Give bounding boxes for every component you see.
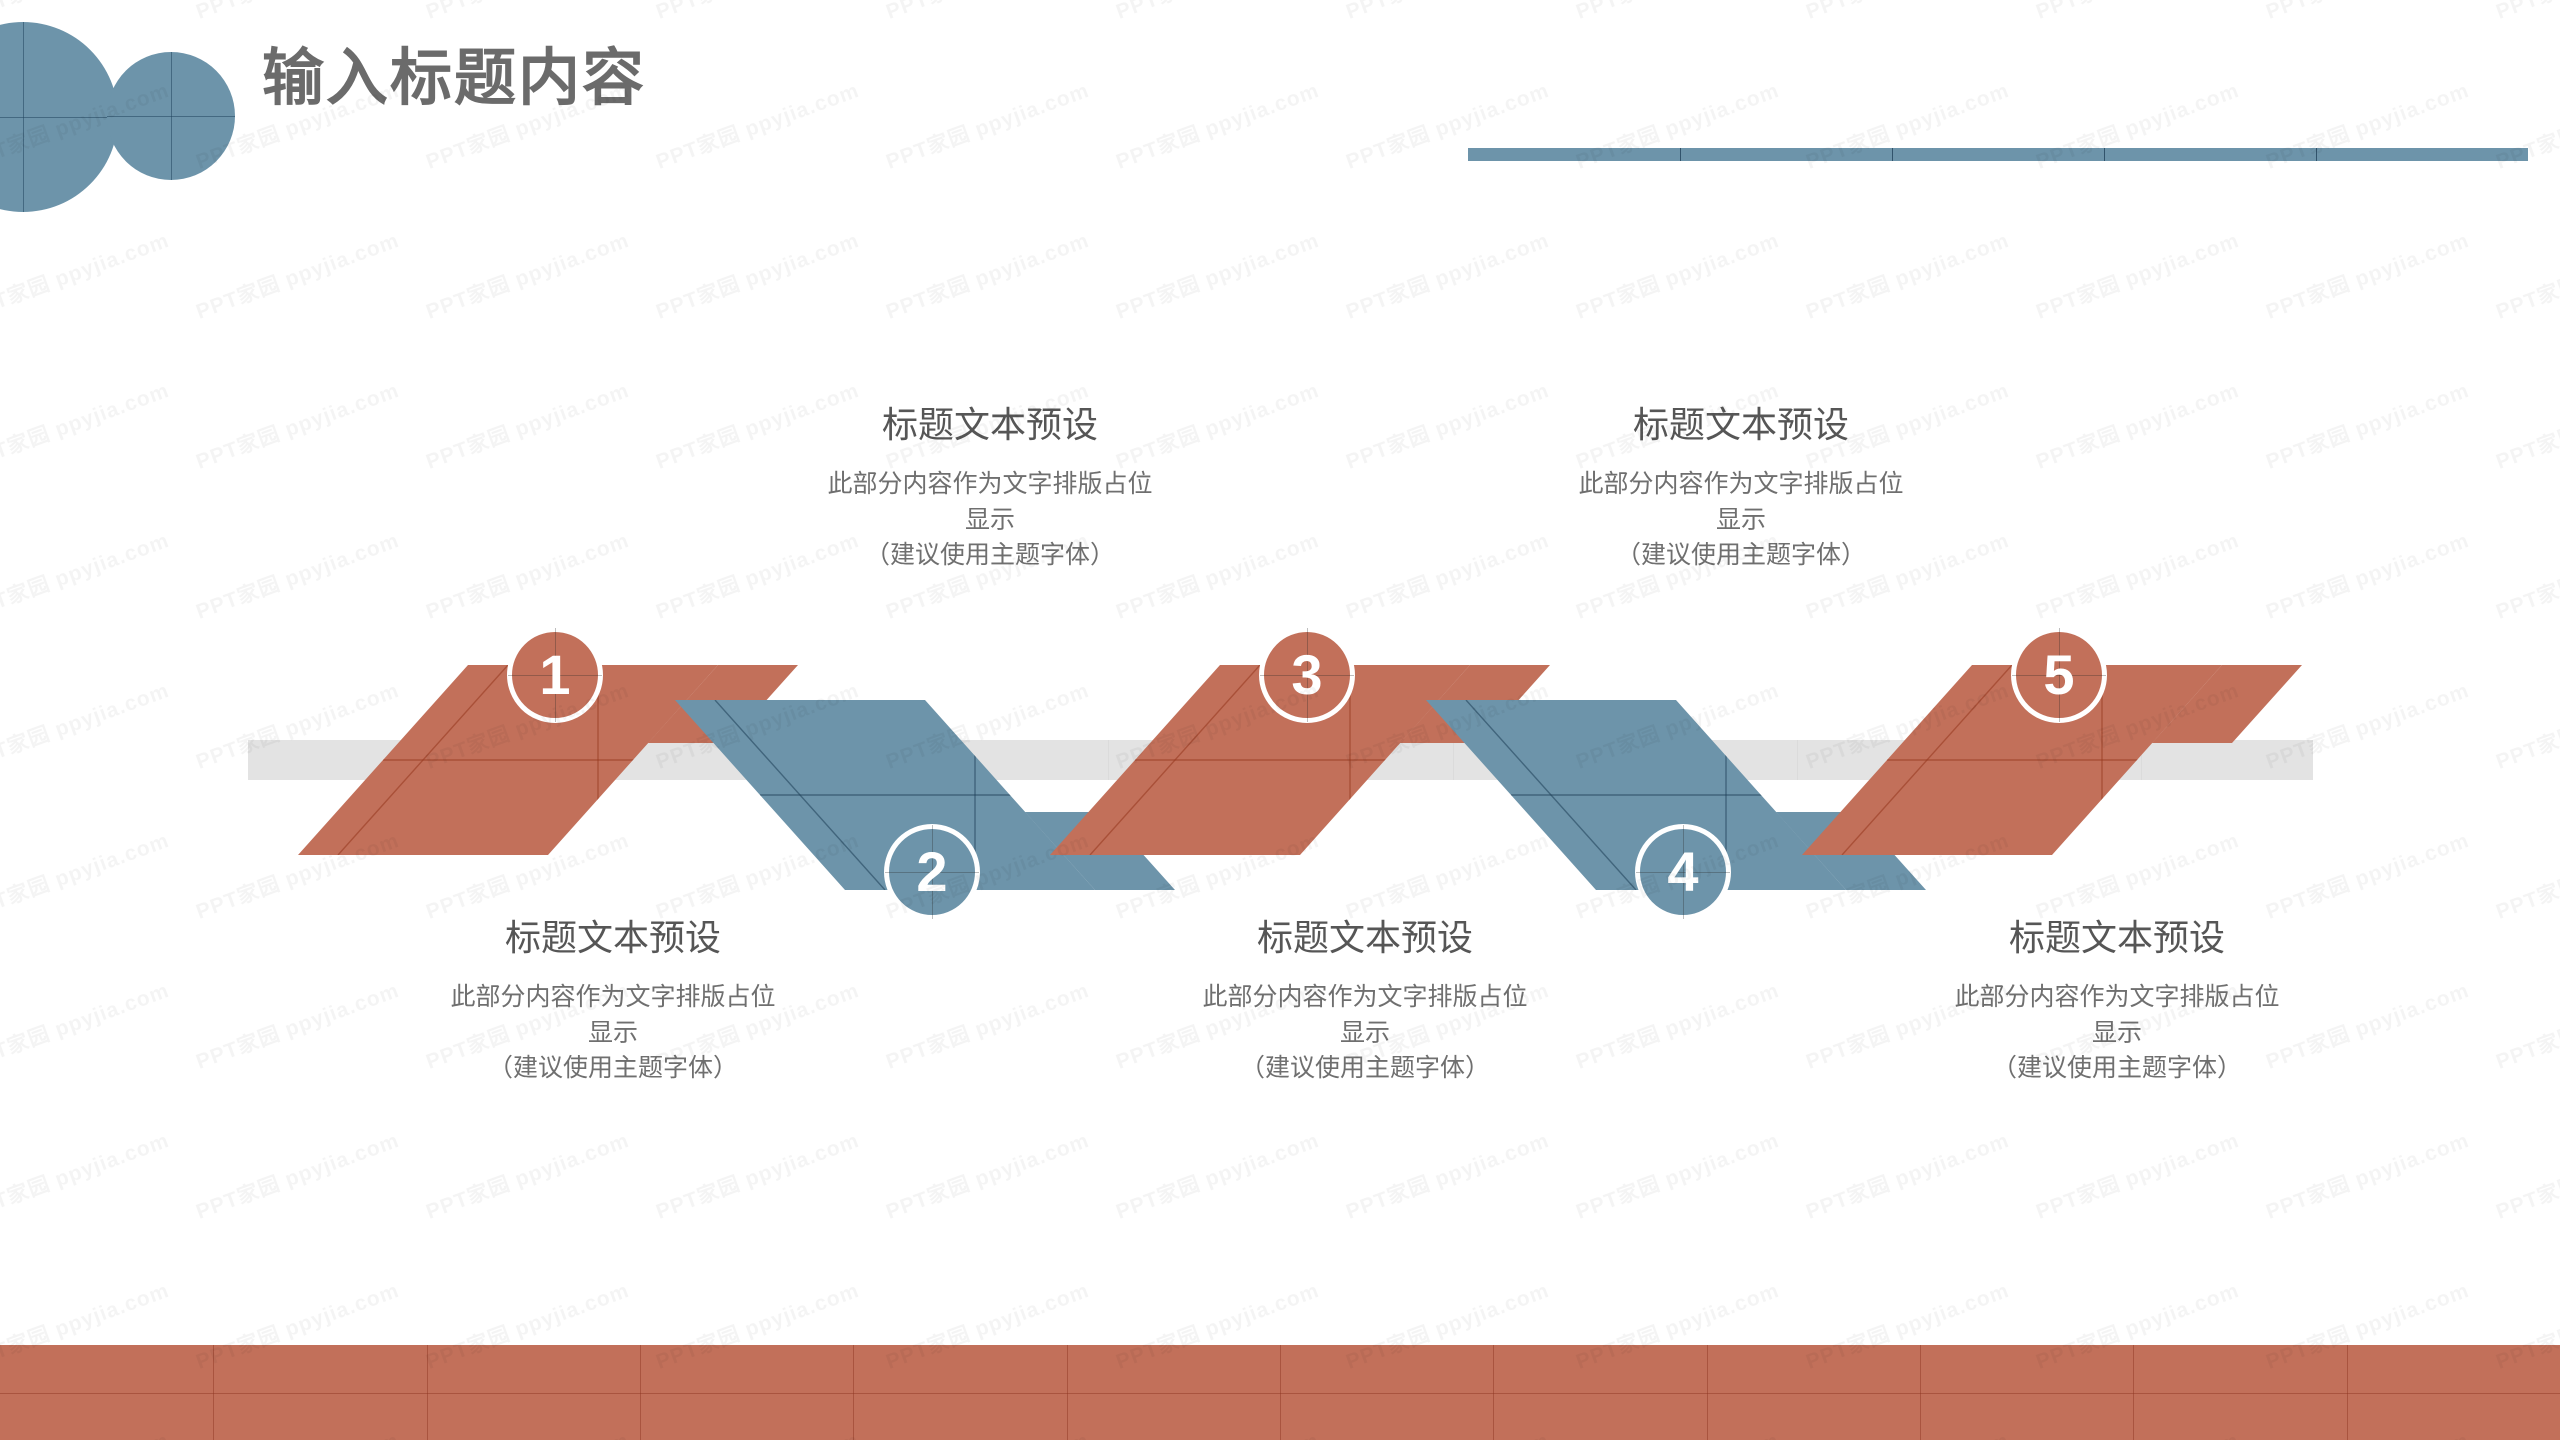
watermark-text: PPT家园 ppyjia.com	[0, 224, 173, 326]
timeline-step[interactable]: 5标题文本预设此部分内容作为文字排版占位显示（建议使用主题字体）	[1842, 0, 2262, 1440]
watermark-text: PPT家园 ppyjia.com	[2491, 374, 2560, 476]
step-number-badge[interactable]: 5	[2011, 627, 2107, 723]
watermark-text: PPT家园 ppyjia.com	[2491, 224, 2560, 326]
watermark-text: PPT家园 ppyjia.com	[2261, 0, 2473, 26]
watermark-text: PPT家园 ppyjia.com	[0, 974, 173, 1076]
header-accent-rule	[1468, 148, 2528, 161]
footer-bar	[0, 1345, 2560, 1440]
watermark-text: PPT家园 ppyjia.com	[2261, 374, 2473, 476]
step-number-label: 2	[916, 844, 947, 900]
page-title: 输入标题内容	[262, 48, 646, 110]
step-body-line: （建议使用主题字体）	[1902, 1051, 2332, 1087]
watermark-text: PPT家园 ppyjia.com	[2491, 674, 2560, 776]
watermark-text: PPT家园 ppyjia.com	[2261, 224, 2473, 326]
watermark-text: PPT家园 ppyjia.com	[0, 1124, 173, 1226]
step-body-line: 显示	[1902, 1016, 2332, 1052]
watermark-text: PPT家园 ppyjia.com	[2261, 1124, 2473, 1226]
step-number-label: 5	[2043, 647, 2074, 703]
step-number-badge[interactable]: 2	[884, 824, 980, 920]
header-rule-divider	[2316, 148, 2317, 161]
watermark-text: PPT家园 ppyjia.com	[0, 374, 173, 476]
step-number-badge[interactable]: 3	[1259, 627, 1355, 723]
header-rule-divider	[1892, 148, 1893, 161]
header-circle-small	[107, 52, 235, 180]
step-number-badge[interactable]: 1	[507, 627, 603, 723]
watermark-text: PPT家园 ppyjia.com	[2491, 524, 2560, 626]
watermark-text: PPT家园 ppyjia.com	[2491, 974, 2560, 1076]
footer-grid-line-horizontal	[0, 1393, 2560, 1394]
watermark-text: PPT家园 ppyjia.com	[2491, 824, 2560, 926]
step-number-badge[interactable]: 4	[1635, 824, 1731, 920]
step-number-label: 1	[539, 647, 570, 703]
header-rule-divider	[1680, 148, 1681, 161]
step-number-label: 3	[1291, 647, 1322, 703]
step-number-label: 4	[1667, 844, 1698, 900]
header-rule-divider	[2104, 148, 2105, 161]
watermark-text: PPT家园 ppyjia.com	[0, 674, 173, 776]
guide-line-vertical	[23, 22, 24, 212]
watermark-text: PPT家园 ppyjia.com	[0, 524, 173, 626]
step-title: 标题文本预设	[1902, 915, 2332, 960]
watermark-text: PPT家园 ppyjia.com	[2491, 1124, 2560, 1226]
guide-line-vertical	[171, 52, 172, 180]
watermark-text: PPT家园 ppyjia.com	[2491, 0, 2560, 26]
watermark-text: PPT家园 ppyjia.com	[2261, 524, 2473, 626]
step-body-line: 此部分内容作为文字排版占位	[1902, 980, 2332, 1016]
step-text-block: 标题文本预设此部分内容作为文字排版占位显示（建议使用主题字体）	[1902, 915, 2332, 1087]
step-body: 此部分内容作为文字排版占位显示（建议使用主题字体）	[1902, 980, 2332, 1087]
guide-line-horizontal	[0, 117, 118, 118]
watermark-text: PPT家园 ppyjia.com	[0, 824, 173, 926]
header-circle-large	[0, 22, 118, 212]
slide-canvas: 输入标题内容 1标题文本预设此部分内容作为文字排版占位显示（建议使用主题字体）2…	[0, 0, 2560, 1440]
